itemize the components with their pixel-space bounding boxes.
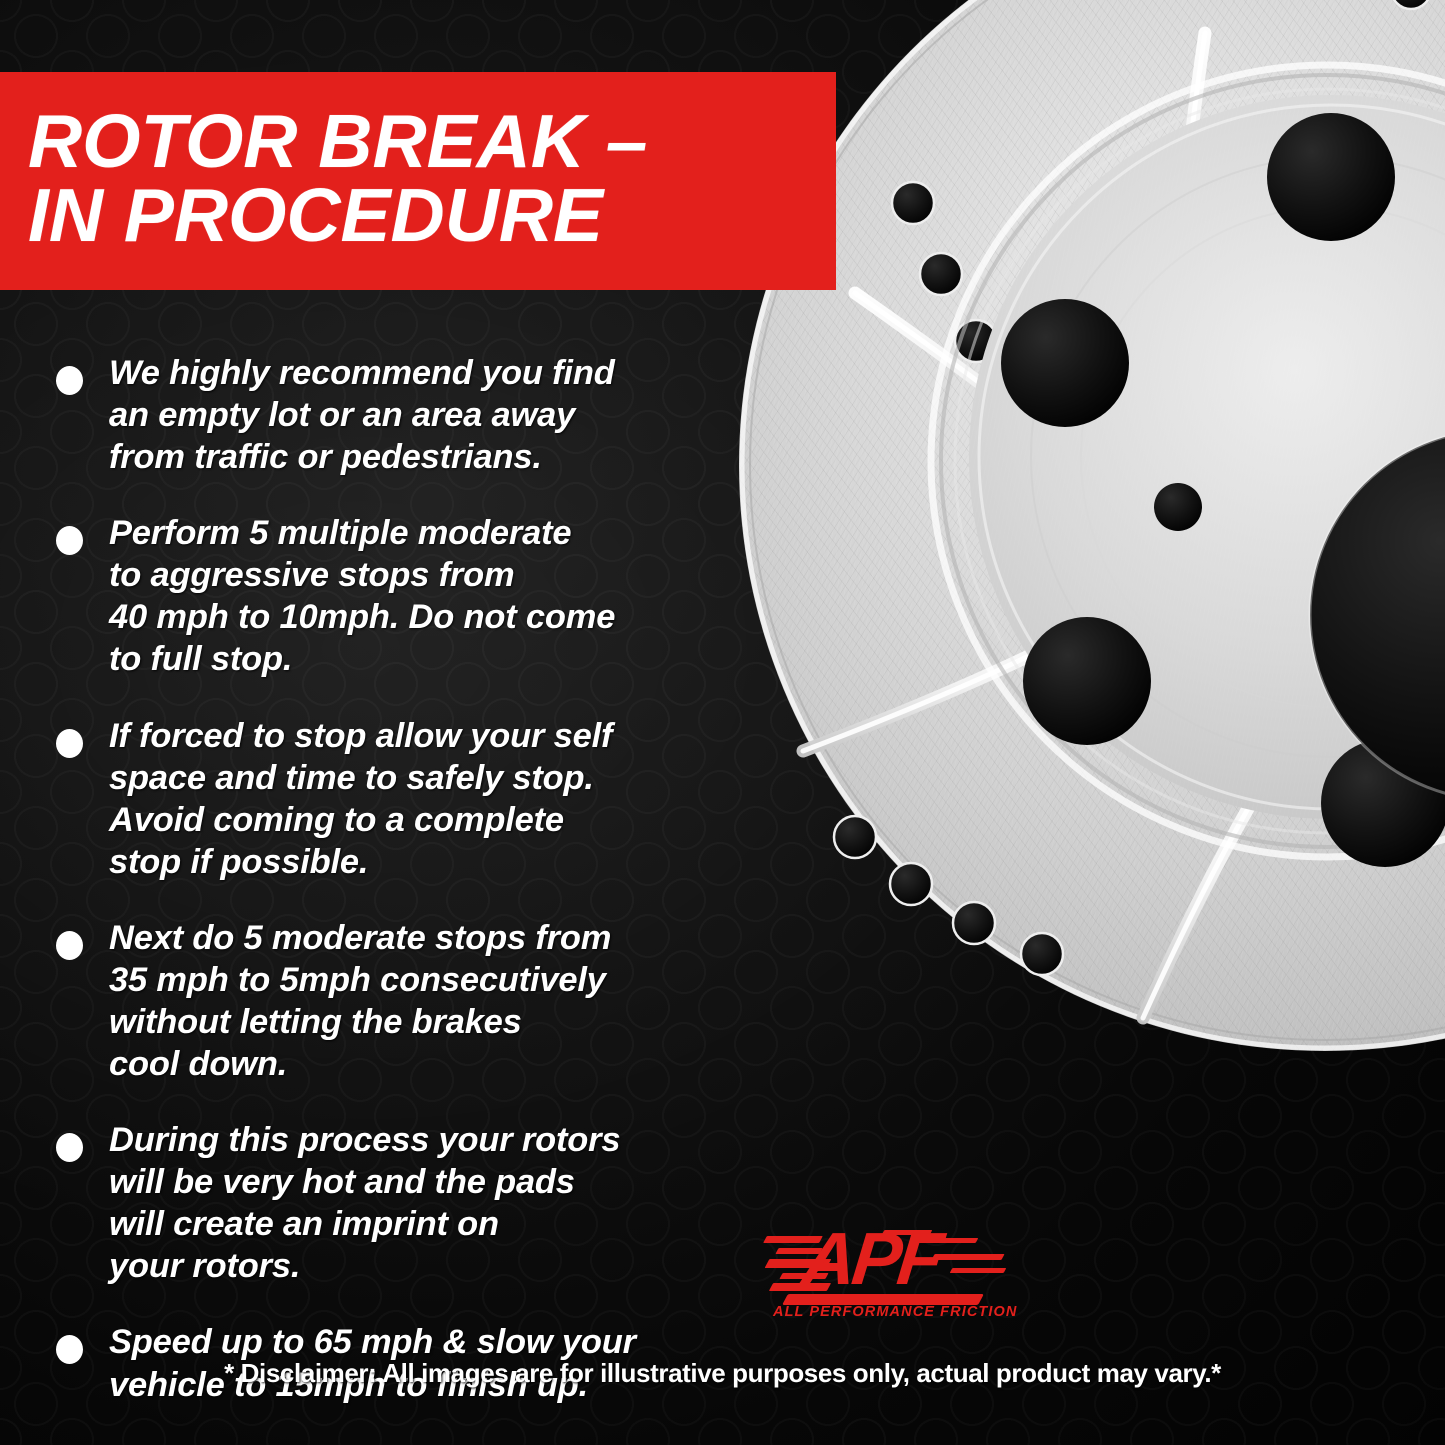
title-banner: ROTOR BREAK – IN PROCEDURE bbox=[0, 72, 836, 290]
apf-tagline: ALL PERFORMANCE FRICTION bbox=[773, 1304, 1005, 1320]
list-item-text: Next do 5 moderate stops from 35 mph to … bbox=[109, 917, 611, 1085]
list-item: If forced to stop allow your self space … bbox=[48, 715, 768, 883]
bullet-dot-icon bbox=[56, 526, 83, 555]
bullet-dot-icon bbox=[56, 729, 83, 758]
list-item-text: We highly recommend you find an empty lo… bbox=[109, 352, 615, 478]
speed-streak-icon bbox=[950, 1268, 1007, 1273]
list-item: Next do 5 moderate stops from 35 mph to … bbox=[48, 917, 768, 1085]
list-item: During this process your rotors will be … bbox=[48, 1119, 768, 1287]
procedure-list: We highly recommend you find an empty lo… bbox=[48, 352, 768, 1406]
list-item-text: If forced to stop allow your self space … bbox=[109, 715, 612, 883]
list-item-text: During this process your rotors will be … bbox=[109, 1119, 620, 1287]
speed-streak-icon bbox=[931, 1254, 1004, 1260]
apf-wordmark-text: APF bbox=[799, 1222, 943, 1296]
bullet-dot-icon bbox=[56, 931, 83, 960]
disclaimer-text: * Disclaimer: All images are for illustr… bbox=[0, 1358, 1445, 1389]
apf-logo: APF ALL PERFORMANCE FRICTION bbox=[765, 1228, 1005, 1338]
list-item: Perform 5 multiple moderate to aggressiv… bbox=[48, 512, 768, 680]
title-line-1: ROTOR BREAK – bbox=[28, 104, 836, 178]
title-line-2: IN PROCEDURE bbox=[28, 178, 836, 252]
apf-wordmark-group: APF bbox=[765, 1228, 1005, 1302]
poster-root: ROTOR BREAK – IN PROCEDURE We highly rec… bbox=[0, 0, 1445, 1445]
list-item-text: Perform 5 multiple moderate to aggressiv… bbox=[109, 512, 615, 680]
list-item: We highly recommend you find an empty lo… bbox=[48, 352, 768, 478]
bullet-dot-icon bbox=[56, 366, 83, 395]
bullet-dot-icon bbox=[56, 1133, 83, 1162]
